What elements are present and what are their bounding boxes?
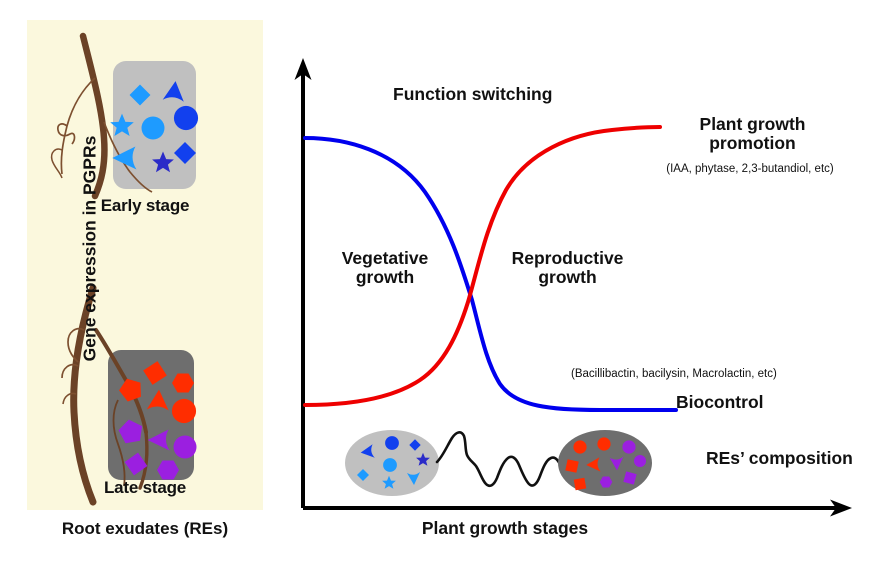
text-line: Reproductive	[512, 248, 624, 268]
annotation-function-switching: Function switching	[393, 84, 552, 105]
text-line: Plant growth	[700, 114, 806, 134]
y-axis-label: Gene expression in PGPRs	[80, 99, 101, 399]
figure-root: Early stage Late stage Root exudates (RE…	[0, 0, 870, 564]
early-stage-label: Early stage	[27, 196, 263, 216]
late-stage-label: Late stage	[27, 478, 263, 498]
series-sublabel-plant-growth-promotion: (IAA, phytase, 2,3-butandiol, etc)	[630, 163, 870, 175]
res-composition-graphic	[345, 430, 652, 496]
late-shape-circle-2	[174, 436, 197, 459]
blob-late-shape-2	[597, 437, 610, 450]
annotation-res-composition: REs’ composition	[706, 448, 853, 469]
blob-early-shape-2	[385, 436, 399, 450]
blob-late-shape-4	[565, 459, 578, 472]
annotation-vegetative-growth: Vegetativegrowth	[320, 249, 450, 288]
text-line: promotion	[709, 133, 796, 153]
blob-late-shape-1	[573, 440, 586, 453]
res-squiggle	[437, 432, 562, 485]
series-sublabel-biocontrol: (Bacillibactin, bacilysin, Macrolactin, …	[571, 368, 777, 380]
blob-late-shape-7	[634, 455, 646, 467]
series-label-biocontrol: Biocontrol	[676, 392, 764, 413]
text-line: growth	[538, 267, 596, 287]
early-shape-circle-2	[174, 106, 198, 130]
annotation-reproductive-growth: Reproductivegrowth	[495, 249, 640, 288]
early-shape-circle-1	[142, 117, 165, 140]
text-line: Vegetative	[342, 248, 429, 268]
blob-early-shape-5	[383, 458, 397, 472]
series-label-plant-growth-promotion: Plant growthpromotion	[650, 115, 855, 153]
text-line: growth	[356, 267, 414, 287]
early-root-hair-3	[52, 149, 62, 178]
root-exudates-caption: Root exudates (REs)	[10, 519, 280, 539]
blob-late-shape-8	[574, 478, 587, 491]
blob-late-shape-3	[622, 440, 635, 453]
x-axis-label: Plant growth stages	[380, 518, 630, 539]
early-stage-graphic	[52, 36, 198, 196]
late-shape-circle-1	[172, 399, 196, 423]
